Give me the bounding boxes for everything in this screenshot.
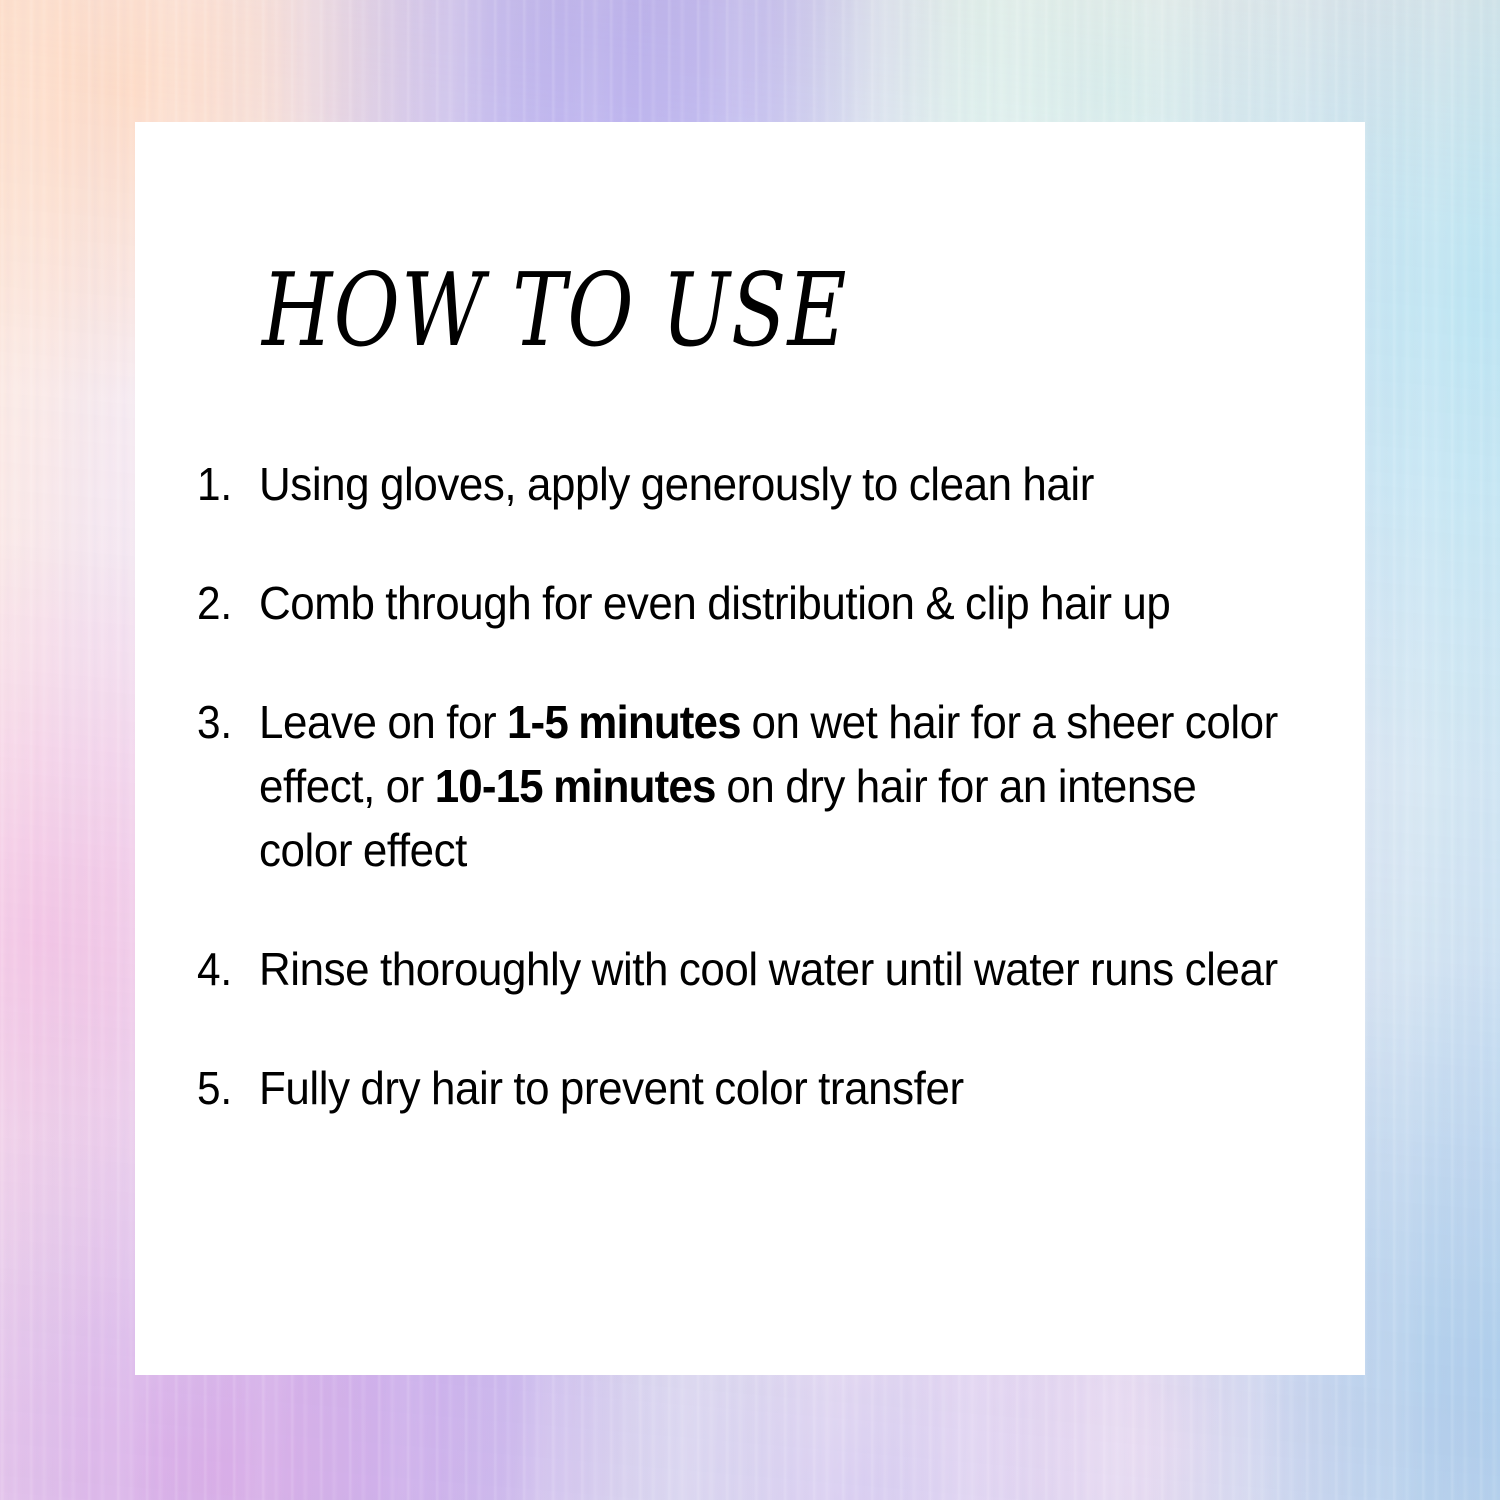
instruction-card: HOW TO USE 1. Using gloves, apply genero… [135,122,1365,1375]
holographic-background: HOW TO USE 1. Using gloves, apply genero… [0,0,1500,1500]
list-item: 2. Comb through for even distribution & … [197,571,1337,635]
step-text: Using gloves, apply generously to clean … [259,452,1288,516]
list-item: 5. Fully dry hair to prevent color trans… [197,1056,1337,1120]
step-number: 5. [197,1056,254,1120]
step-number: 4. [197,937,254,1001]
how-to-use-steps-list: 1. Using gloves, apply generously to cle… [197,452,1337,1120]
step-number: 2. [197,571,254,635]
page-title: HOW TO USE [262,260,848,361]
list-item: 1. Using gloves, apply generously to cle… [197,452,1337,516]
step-number: 3. [197,690,254,754]
step-text: Comb through for even distribution & cli… [259,571,1288,635]
step-text: Fully dry hair to prevent color transfer [259,1056,1288,1120]
list-item: 4. Rinse thoroughly with cool water unti… [197,937,1337,1001]
step-text: Leave on for 1-5 minutes on wet hair for… [259,690,1288,882]
step-text: Rinse thoroughly with cool water until w… [259,937,1288,1001]
list-item: 3. Leave on for 1-5 minutes on wet hair … [197,690,1337,882]
step-number: 1. [197,452,254,516]
